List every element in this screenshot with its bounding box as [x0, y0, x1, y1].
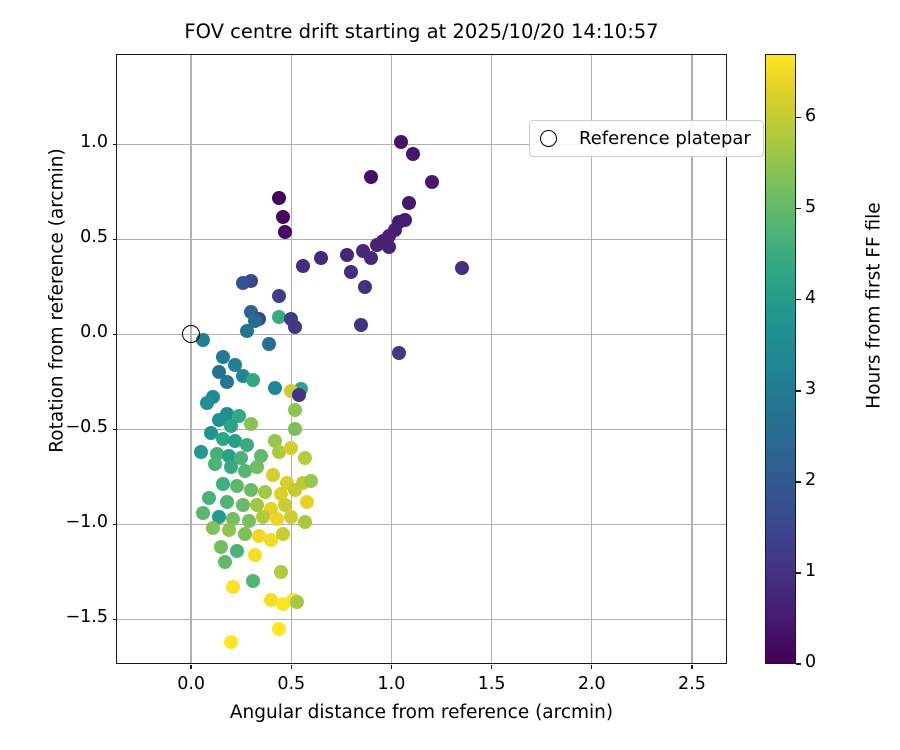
scatter-point [230, 479, 244, 493]
scatter-point [288, 320, 302, 334]
scatter-point [290, 595, 304, 609]
scatter-point [256, 510, 270, 524]
scatter-point [218, 555, 232, 569]
scatter-point [394, 135, 408, 149]
plot-axes: Reference platepar 0.00.51.01.52.02.51.0… [116, 54, 727, 664]
scatter-point [272, 191, 286, 205]
scatter-point [358, 280, 372, 294]
scatter-point [392, 346, 406, 360]
scatter-point [196, 506, 210, 520]
colorbar-tick [796, 390, 801, 391]
scatter-point [292, 388, 306, 402]
scatter-point [236, 498, 250, 512]
colorbar-tick-label: 6 [805, 106, 816, 126]
scatter-point [402, 196, 416, 210]
scatter-point [214, 540, 228, 554]
y-tick [113, 239, 117, 240]
x-tick-label: 2.0 [557, 674, 627, 694]
x-tick-label: 0.5 [256, 674, 326, 694]
x-tick [391, 665, 392, 669]
legend: Reference platepar [529, 120, 764, 157]
scatter-point [298, 515, 312, 529]
colorbar-tick-label: 0 [805, 652, 816, 672]
scatter-point [224, 460, 238, 474]
scatter-point [224, 419, 238, 433]
scatter-point [202, 491, 216, 505]
colorbar-tick [796, 572, 801, 573]
scatter-point [298, 451, 312, 465]
scatter-point [240, 324, 254, 338]
colorbar-tick-label: 3 [805, 379, 816, 399]
scatter-point [226, 580, 240, 594]
scatter-point [244, 417, 258, 431]
colorbar-tick [796, 117, 801, 118]
colorbar-tick [796, 208, 801, 209]
scatter-point [246, 373, 260, 387]
x-tick-label: 2.5 [657, 674, 727, 694]
colorbar-gradient [765, 54, 796, 664]
scatter-point [262, 337, 276, 351]
scatter-point [288, 483, 302, 497]
scatter-point [364, 251, 378, 265]
colorbar-tick-label: 4 [805, 288, 816, 308]
scatter-point [276, 210, 290, 224]
scatter-point [288, 422, 302, 436]
colorbar-tick-label: 2 [805, 470, 816, 490]
scatter-point [278, 225, 292, 239]
scatter-point [406, 147, 420, 161]
x-tick [691, 665, 692, 669]
scatter-point [206, 521, 220, 535]
scatter-point [340, 248, 354, 262]
scatter-point [242, 514, 256, 528]
y-tick [113, 524, 117, 525]
scatter-point [230, 544, 244, 558]
y-tick-label: −1.5 [38, 607, 108, 627]
x-tick [190, 665, 191, 669]
legend-label: Reference platepar [579, 128, 751, 149]
x-tick-label: 0.0 [156, 674, 226, 694]
x-tick [591, 665, 592, 669]
scatter-point [344, 265, 358, 279]
y-tick [113, 429, 117, 430]
scatter-point [354, 318, 368, 332]
colorbar-tick [796, 663, 801, 664]
gridline-horizontal [117, 619, 726, 620]
scatter-point [364, 170, 378, 184]
scatter-point [216, 477, 230, 491]
scatter-point [296, 259, 310, 273]
scatter-point [272, 622, 286, 636]
scatter-point [258, 485, 272, 499]
scatter-point [276, 527, 290, 541]
scatter-point [266, 468, 280, 482]
scatter-point [274, 565, 288, 579]
scatter-point [250, 460, 264, 474]
y-axis-label: Rotation from reference (arcmin) [47, 91, 68, 511]
figure: FOV centre drift starting at 2025/10/20 … [0, 0, 900, 750]
gridline-vertical [491, 55, 492, 663]
scatter-point [244, 483, 258, 497]
colorbar-tick [796, 299, 801, 300]
scatter-point [314, 251, 328, 265]
gridline-horizontal [117, 239, 726, 240]
scatter-point [238, 527, 252, 541]
scatter-point [455, 261, 469, 275]
gridline-vertical [291, 55, 292, 663]
scatter-point [382, 240, 396, 254]
scatter-point [272, 289, 286, 303]
scatter-point [240, 438, 254, 452]
x-tick [491, 665, 492, 669]
x-tick [291, 665, 292, 669]
scatter-point [284, 441, 298, 455]
scatter-point [284, 510, 298, 524]
x-tick-label: 1.5 [457, 674, 527, 694]
colorbar-tick-label: 1 [805, 561, 816, 581]
scatter-point [288, 403, 302, 417]
reference-platepar-legend-icon [540, 130, 557, 147]
x-tick-label: 1.0 [356, 674, 426, 694]
colorbar: 0123456 [765, 54, 796, 664]
scatter-point [268, 381, 282, 395]
scatter-point [304, 474, 318, 488]
scatter-point [300, 495, 314, 509]
colorbar-label: Hours from first FF file [864, 96, 885, 516]
scatter-point [194, 445, 208, 459]
scatter-point [246, 574, 260, 588]
scatter-point [236, 276, 250, 290]
colorbar-tick [796, 481, 801, 482]
y-tick-label: −1.0 [38, 512, 108, 532]
scatter-point [224, 635, 238, 649]
gridline-vertical [391, 55, 392, 663]
y-tick [113, 334, 117, 335]
chart-title: FOV centre drift starting at 2025/10/20 … [116, 20, 727, 43]
gridline-vertical [190, 55, 191, 663]
x-axis-label: Angular distance from reference (arcmin) [116, 702, 727, 723]
scatter-point [200, 396, 214, 410]
scatter-point [208, 457, 222, 471]
scatter-point [220, 495, 234, 509]
scatter-point [220, 375, 234, 389]
scatter-point [425, 175, 439, 189]
colorbar-tick-label: 5 [805, 197, 816, 217]
scatter-point [222, 523, 236, 537]
scatter-point [248, 548, 262, 562]
y-tick [113, 144, 117, 145]
scatter-point [270, 512, 284, 526]
y-tick [113, 619, 117, 620]
